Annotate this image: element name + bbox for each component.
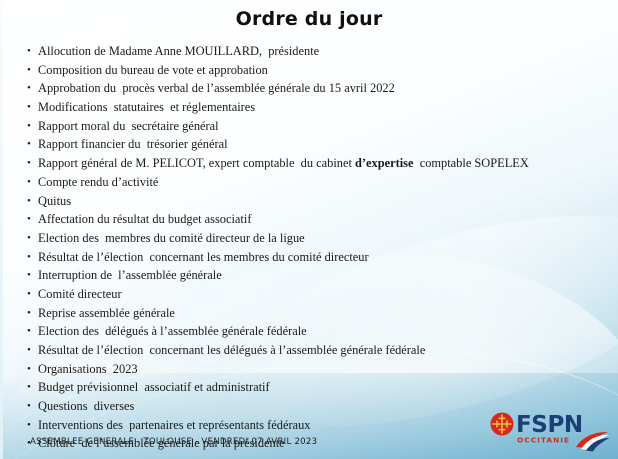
agenda-item-label: Rapport financier du trésorier général [38, 135, 587, 153]
bullet-icon: • [27, 154, 38, 172]
agenda-item: •Rapport général de M. PELICOT, expert c… [27, 154, 587, 172]
bullet-icon: • [27, 192, 38, 210]
bullet-icon: • [27, 135, 38, 153]
agenda-item: •Résultat de l’élection concernant les m… [27, 248, 587, 266]
agenda-item: •Allocution de Madame Anne MOUILLARD, pr… [27, 42, 587, 60]
bullet-icon: • [27, 304, 38, 322]
agenda-item: •Quitus [27, 192, 587, 210]
agenda-item: •Composition du bureau de vote et approb… [27, 61, 587, 79]
agenda-item: •Organisations 2023 [27, 360, 587, 378]
agenda-item-label: Affectation du résultat du budget associ… [38, 210, 587, 228]
agenda-item: •Interruption de l’assemblée générale [27, 266, 587, 284]
agenda-item-label: Allocution de Madame Anne MOUILLARD, pré… [38, 42, 587, 60]
bullet-icon: • [27, 266, 38, 284]
bullet-icon: • [27, 360, 38, 378]
agenda-item: •Election des délégués à l’assemblée gén… [27, 322, 587, 340]
agenda-item-emphasis: d’expertise [355, 156, 414, 170]
agenda-item-label: Budget prévisionnel associatif et admini… [38, 378, 587, 396]
bullet-icon: • [27, 322, 38, 340]
bullet-icon: • [27, 397, 38, 415]
bullet-icon: • [27, 416, 38, 434]
agenda-item-label: Composition du bureau de vote et approba… [38, 61, 587, 79]
agenda-item: •Election des membres du comité directeu… [27, 229, 587, 247]
agenda-item: •Comité directeur [27, 285, 587, 303]
agenda-item: •Rapport financier du trésorier général [27, 135, 587, 153]
agenda-item: •Modifications statutaires et réglementa… [27, 98, 587, 116]
occitan-cross-icon [491, 413, 514, 436]
agenda-item-label: Organisations 2023 [38, 360, 587, 378]
agenda-item: •Affectation du résultat du budget assoc… [27, 210, 587, 228]
bullet-icon: • [27, 341, 38, 359]
bullet-icon: • [27, 42, 38, 60]
logo-subtitle: OCCITANIE [517, 436, 570, 445]
agenda-item-label: Election des membres du comité directeur… [38, 229, 587, 247]
agenda-item-label: Rapport général de M. PELICOT, expert co… [38, 154, 587, 172]
agenda-item: •Rapport moral du secrétaire général [27, 117, 587, 135]
agenda-list: •Allocution de Madame Anne MOUILLARD, pr… [27, 42, 587, 453]
bullet-icon: • [27, 229, 38, 247]
bullet-icon: • [27, 173, 38, 191]
bullet-icon: • [27, 117, 38, 135]
slide-title: Ordre du jour [0, 8, 618, 30]
agenda-item: •Reprise assemblée générale [27, 304, 587, 322]
agenda-item: •Budget prévisionnel associatif et admin… [27, 378, 587, 396]
bullet-icon: • [27, 61, 38, 79]
logo-wordmark: FSPN [516, 412, 583, 438]
agenda-item-label: Rapport moral du secrétaire général [38, 117, 587, 135]
fspn-occitanie-logo: FSPN OCCITANIE [488, 405, 610, 453]
slide-footer-note: ASSEMBLEE GENERALE - TOULOUSE - VENDREDI… [30, 437, 317, 447]
agenda-item-label: Quitus [38, 192, 587, 210]
agenda-item-label: Résultat de l’élection concernant les me… [38, 248, 587, 266]
agenda-item-label: Comité directeur [38, 285, 587, 303]
presentation-slide: Ordre du jour •Allocution de Madame Anne… [0, 0, 618, 459]
agenda-item: •Approbation du procès verbal de l’assem… [27, 79, 587, 97]
agenda-item: •Résultat de l’élection concernant les d… [27, 341, 587, 359]
bullet-icon: • [27, 285, 38, 303]
agenda-item-label: Résultat de l’élection concernant les dé… [38, 341, 587, 359]
bullet-icon: • [27, 378, 38, 396]
bullet-icon: • [27, 79, 38, 97]
bullet-icon: • [27, 248, 38, 266]
bullet-icon: • [27, 210, 38, 228]
agenda-item-label: Modifications statutaires et réglementai… [38, 98, 587, 116]
agenda-item-label: Compte rendu d’activité [38, 173, 587, 191]
agenda-item-label: Reprise assemblée générale [38, 304, 587, 322]
slide-left-edge [0, 0, 3, 459]
bullet-icon: • [27, 98, 38, 116]
agenda-item-label: Interruption de l’assemblée générale [38, 266, 587, 284]
agenda-item: •Compte rendu d’activité [27, 173, 587, 191]
agenda-item-label: Election des délégués à l’assemblée géné… [38, 322, 587, 340]
agenda-item-label: Approbation du procès verbal de l’assemb… [38, 79, 587, 97]
